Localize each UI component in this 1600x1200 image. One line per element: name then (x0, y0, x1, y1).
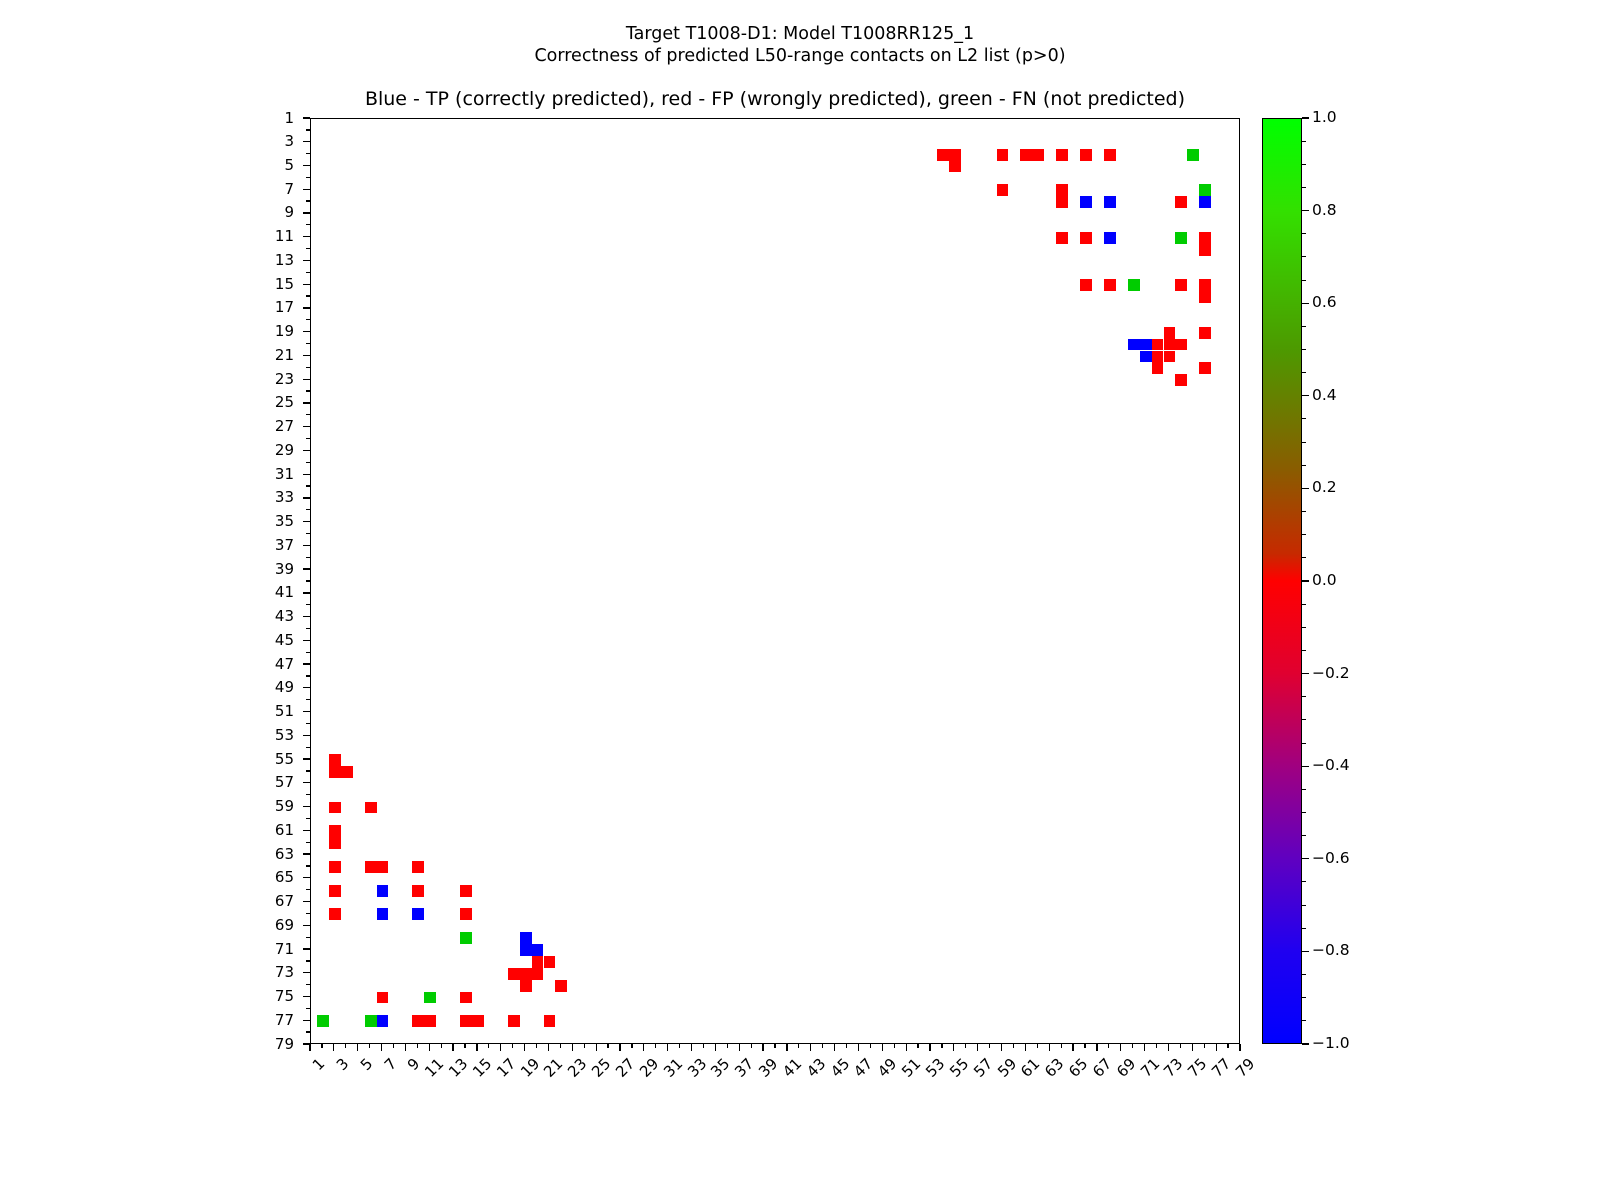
y-tick-mark (303, 284, 310, 285)
colorbar-tick-mark (1302, 349, 1306, 350)
y-tick-mark (306, 248, 310, 249)
colorbar-tick-mark (1302, 511, 1306, 512)
contact-cell-fn (1128, 279, 1140, 291)
y-tick-mark (306, 1031, 310, 1032)
contact-cell-fp (424, 1015, 436, 1027)
contact-cell-fp (1056, 196, 1068, 208)
x-tick-mark (500, 1044, 501, 1051)
colorbar-tick-mark (1302, 418, 1306, 419)
contact-cell-fp (1080, 232, 1092, 244)
x-tick-mark (441, 1044, 442, 1048)
y-tick-label: 67 (234, 894, 294, 909)
y-tick-mark (306, 794, 310, 795)
colorbar-tick-mark (1302, 604, 1306, 605)
x-tick-mark (631, 1044, 632, 1048)
x-tick-mark (1072, 1044, 1073, 1051)
colorbar-tick-label: −0.2 (1312, 666, 1350, 682)
y-tick-mark (306, 295, 310, 296)
colorbar-tick-mark (1302, 673, 1309, 674)
x-tick-mark (321, 1044, 322, 1048)
y-tick-mark (303, 806, 310, 807)
x-tick-mark (596, 1044, 597, 1051)
y-tick-mark (303, 996, 310, 997)
x-tick-mark (1013, 1044, 1014, 1048)
y-tick-label: 79 (234, 1037, 294, 1052)
y-tick-label: 29 (234, 443, 294, 458)
colorbar-tick-mark (1302, 395, 1309, 396)
y-tick-label: 41 (234, 585, 294, 600)
y-tick-label: 35 (234, 514, 294, 529)
x-tick-mark (894, 1044, 895, 1048)
y-tick-mark (306, 818, 310, 819)
colorbar-tick-label: 0.2 (1312, 480, 1337, 496)
contact-cells-layer (311, 119, 1239, 1043)
contact-cell-fp (329, 802, 341, 814)
y-tick-mark (303, 307, 310, 308)
x-tick-mark (405, 1044, 406, 1051)
x-tick-mark (1001, 1044, 1002, 1051)
x-tick-mark (751, 1044, 752, 1048)
colorbar-tick-mark (1302, 650, 1306, 651)
y-tick-label: 7 (234, 182, 294, 197)
y-tick-label: 33 (234, 490, 294, 505)
y-tick-mark (303, 521, 310, 522)
x-tick-mark (989, 1044, 990, 1048)
contact-cell-fn (365, 1015, 377, 1027)
contact-cell-fn (317, 1015, 329, 1027)
y-tick-mark (303, 117, 310, 118)
y-tick-mark (306, 865, 310, 866)
colorbar-tick-mark (1302, 465, 1306, 466)
x-tick-mark (345, 1044, 346, 1048)
y-tick-mark (303, 877, 310, 878)
x-tick-mark (822, 1044, 823, 1048)
x-tick-mark (1120, 1044, 1121, 1051)
y-tick-mark (303, 189, 310, 190)
x-tick-mark (1192, 1044, 1193, 1051)
colorbar-tick-mark (1302, 117, 1309, 118)
x-tick-mark (965, 1044, 966, 1048)
y-tick-mark (303, 782, 310, 783)
x-tick-mark (333, 1044, 334, 1051)
contact-cell-fp (1020, 149, 1032, 161)
x-tick-mark (369, 1044, 370, 1048)
colorbar-tick-mark (1302, 719, 1306, 720)
contact-cell-fp (365, 802, 377, 814)
x-tick-mark (762, 1044, 763, 1051)
y-tick-label: 1 (234, 111, 294, 126)
colorbar-tick-mark (1302, 233, 1306, 234)
y-tick-label: 37 (234, 538, 294, 553)
contact-cell-fp (1032, 149, 1044, 161)
y-tick-mark (303, 568, 310, 569)
y-tick-mark (303, 260, 310, 261)
figure-suptitle-line-2: Correctness of predicted L50-range conta… (0, 44, 1600, 69)
y-tick-label: 5 (234, 158, 294, 173)
colorbar-tick-mark (1302, 557, 1306, 558)
contact-cell-fp (1199, 291, 1211, 303)
y-tick-mark (306, 462, 310, 463)
y-tick-mark (303, 545, 310, 546)
contact-cell-fp (1164, 351, 1176, 363)
y-tick-mark (303, 663, 310, 664)
x-tick-mark (464, 1044, 465, 1048)
contact-cell-fp (329, 837, 341, 849)
colorbar-tick-mark (1302, 858, 1309, 859)
y-tick-mark (306, 200, 310, 201)
contact-cell-fp (1199, 279, 1211, 291)
contact-cell-fp (329, 885, 341, 897)
x-tick-mark (858, 1044, 859, 1051)
colorbar-tick-mark (1302, 372, 1306, 373)
x-tick-mark (715, 1044, 716, 1051)
contact-cell-tp (1140, 351, 1152, 363)
y-tick-mark (303, 925, 310, 926)
x-tick-mark (1227, 1044, 1228, 1048)
y-tick-mark (303, 236, 310, 237)
y-tick-label: 43 (234, 609, 294, 624)
contact-cell-fp (329, 825, 341, 837)
x-tick-mark (703, 1044, 704, 1048)
contact-cell-fp (937, 149, 949, 161)
y-tick-label: 23 (234, 372, 294, 387)
contact-cell-fp (460, 885, 472, 897)
y-tick-mark (306, 723, 310, 724)
y-tick-mark (303, 592, 310, 593)
contact-cell-tp (532, 944, 544, 956)
contact-cell-fp (1199, 362, 1211, 374)
x-tick-mark (584, 1044, 585, 1048)
x-tick-mark (619, 1044, 620, 1051)
y-tick-mark (303, 426, 310, 427)
contact-cell-fp (1164, 339, 1176, 351)
contact-cell-fp (1056, 149, 1068, 161)
colorbar-tick-mark (1302, 256, 1306, 257)
x-tick-mark (977, 1044, 978, 1051)
y-tick-label: 75 (234, 989, 294, 1004)
y-tick-label: 49 (234, 680, 294, 695)
x-tick-mark (1180, 1044, 1181, 1048)
colorbar-tick-mark (1302, 766, 1309, 767)
colorbar-tick-label: −0.4 (1312, 758, 1350, 774)
y-tick-label: 15 (234, 277, 294, 292)
x-tick-mark (739, 1044, 740, 1051)
colorbar-tick-mark (1302, 1043, 1309, 1044)
x-tick-mark (727, 1044, 728, 1048)
contact-map-figure: Target T1008-D1: Model T1008RR125_1 Corr… (0, 0, 1600, 1200)
x-tick-mark (929, 1044, 930, 1051)
colorbar-tick-mark (1302, 881, 1306, 882)
x-tick-mark (357, 1044, 358, 1051)
x-tick-mark (953, 1044, 954, 1051)
colorbar-tick-label: −1.0 (1312, 1036, 1350, 1052)
contact-cell-fp (544, 1015, 556, 1027)
colorbar-tick-mark (1302, 997, 1306, 998)
y-tick-mark (306, 842, 310, 843)
y-tick-mark (303, 379, 310, 380)
y-tick-label: 39 (234, 562, 294, 577)
contact-cell-tp (1104, 232, 1116, 244)
contact-cell-tp (1140, 339, 1152, 351)
y-tick-mark (303, 758, 310, 759)
y-tick-mark (306, 272, 310, 273)
y-tick-mark (306, 984, 310, 985)
contact-cell-tp (520, 944, 532, 956)
y-tick-label: 51 (234, 704, 294, 719)
contact-cell-fp (329, 766, 341, 778)
contact-cell-fp (1175, 196, 1187, 208)
contact-cell-fp (949, 161, 961, 173)
y-tick-mark (303, 687, 310, 688)
y-tick-label: 57 (234, 775, 294, 790)
contact-cell-fp (1056, 232, 1068, 244)
y-tick-mark (303, 830, 310, 831)
colorbar-tick-mark (1302, 789, 1306, 790)
y-tick-mark (306, 889, 310, 890)
x-tick-mark (1204, 1044, 1205, 1048)
y-tick-mark (306, 533, 310, 534)
contact-cell-tp (412, 908, 424, 920)
y-tick-mark (303, 497, 310, 498)
contact-cell-fp (412, 1015, 424, 1027)
contact-cell-tp (520, 932, 532, 944)
y-tick-mark (306, 557, 310, 558)
contact-cell-fp (341, 766, 353, 778)
y-tick-label: 71 (234, 942, 294, 957)
contact-cell-fp (508, 1015, 520, 1027)
contact-cell-fp (1199, 232, 1211, 244)
y-tick-mark (306, 628, 310, 629)
y-tick-mark (306, 604, 310, 605)
y-tick-label: 11 (234, 229, 294, 244)
contact-cell-fp (532, 968, 544, 980)
colorbar-tick-mark (1302, 534, 1306, 535)
x-tick-mark (607, 1044, 608, 1048)
contact-map-plot-area[interactable] (310, 118, 1240, 1044)
axes-title-legend: Blue - TP (correctly predicted), red - F… (310, 88, 1240, 110)
x-tick-mark (1108, 1044, 1109, 1048)
x-tick-mark (786, 1044, 787, 1051)
x-tick-mark (691, 1044, 692, 1051)
contact-cell-tp (1128, 339, 1140, 351)
x-tick-mark (1132, 1044, 1133, 1048)
colorbar-tick-mark (1302, 580, 1309, 581)
colorbar-tick-mark (1302, 905, 1306, 906)
y-tick-label: 45 (234, 633, 294, 648)
x-tick-mark (870, 1044, 871, 1048)
contact-cell-fp (1104, 149, 1116, 161)
contact-cell-fn (1187, 149, 1199, 161)
y-tick-mark (306, 177, 310, 178)
y-tick-mark (303, 331, 310, 332)
y-tick-label: 13 (234, 253, 294, 268)
contact-cell-fp (460, 908, 472, 920)
colorbar-tick-mark (1302, 210, 1309, 211)
y-tick-mark (306, 580, 310, 581)
contact-cell-fp (532, 956, 544, 968)
y-tick-mark (306, 770, 310, 771)
x-tick-mark (1049, 1044, 1050, 1051)
y-tick-label: 53 (234, 728, 294, 743)
x-tick-mark (643, 1044, 644, 1051)
colorbar-tick-mark (1302, 743, 1306, 744)
contact-cell-fp (1164, 327, 1176, 339)
colorbar-tick-mark (1302, 835, 1306, 836)
x-tick-mark (834, 1044, 835, 1051)
contact-cell-fp (1152, 362, 1164, 374)
x-tick-mark (1168, 1044, 1169, 1051)
contact-cell-fp (997, 149, 1009, 161)
contact-cell-fp (329, 861, 341, 873)
colorbar-tick-mark (1302, 303, 1309, 304)
contact-cell-fp (329, 908, 341, 920)
contact-cell-fp (1152, 351, 1164, 363)
y-tick-mark (303, 1020, 310, 1021)
contact-cell-fp (1199, 244, 1211, 256)
y-tick-label: 65 (234, 870, 294, 885)
y-tick-label: 31 (234, 467, 294, 482)
colorbar-tick-mark (1302, 1020, 1306, 1021)
colorbar-tick-mark (1302, 280, 1306, 281)
contact-cell-fp (997, 184, 1009, 196)
colorbar-tick-mark (1302, 488, 1309, 489)
y-tick-label: 61 (234, 823, 294, 838)
contact-cell-fp (508, 968, 520, 980)
x-tick-mark (417, 1044, 418, 1048)
colorbar-tick-mark (1302, 951, 1309, 952)
x-tick-mark (906, 1044, 907, 1051)
x-tick-mark (655, 1044, 656, 1048)
y-tick-mark (306, 1008, 310, 1009)
colorbar-tick-mark (1302, 164, 1306, 165)
colorbar-tick-label: −0.8 (1312, 943, 1350, 959)
y-tick-label: 63 (234, 847, 294, 862)
contact-cell-fp (520, 980, 532, 992)
y-tick-mark (303, 972, 310, 973)
y-tick-mark (306, 438, 310, 439)
colorbar-tick-mark (1302, 696, 1306, 697)
y-tick-mark (303, 711, 310, 712)
contact-cell-fp (377, 861, 389, 873)
y-tick-mark (306, 319, 310, 320)
colorbar-tick-mark (1302, 974, 1306, 975)
x-tick-mark (882, 1044, 883, 1051)
y-tick-mark (306, 937, 310, 938)
y-tick-label: 25 (234, 395, 294, 410)
contact-cell-fp (1104, 279, 1116, 291)
x-tick-mark (798, 1044, 799, 1048)
y-tick-mark (306, 343, 310, 344)
y-tick-mark (306, 129, 310, 130)
y-tick-mark (306, 913, 310, 914)
x-tick-mark (1025, 1044, 1026, 1051)
contact-cell-fp (1080, 149, 1092, 161)
contact-cell-tp (377, 908, 389, 920)
y-tick-mark (303, 735, 310, 736)
y-tick-label: 19 (234, 324, 294, 339)
contact-cell-fp (460, 992, 472, 1004)
x-tick-mark (381, 1044, 382, 1051)
y-tick-label: 9 (234, 205, 294, 220)
contact-cell-tp (377, 1015, 389, 1027)
contact-cell-fp (1175, 339, 1187, 351)
x-tick-mark (512, 1044, 513, 1048)
contact-cell-fp (365, 861, 377, 873)
x-tick-mark (452, 1044, 453, 1051)
y-tick-mark (306, 747, 310, 748)
x-tick-mark (488, 1044, 489, 1048)
y-tick-mark (303, 355, 310, 356)
y-tick-mark (303, 450, 310, 451)
contact-cell-fp (412, 885, 424, 897)
x-tick-mark (846, 1044, 847, 1048)
contact-cell-tp (1104, 196, 1116, 208)
colorbar-tick-label: 0.8 (1312, 203, 1337, 219)
contact-cell-fp (1056, 184, 1068, 196)
x-tick-mark (524, 1044, 525, 1051)
y-tick-mark (306, 485, 310, 486)
colorbar-tick-mark (1302, 442, 1306, 443)
x-tick-mark (679, 1044, 680, 1048)
y-tick-mark (306, 960, 310, 961)
x-tick-mark (917, 1044, 918, 1048)
colorbar-tick-label: 0.6 (1312, 295, 1337, 311)
y-tick-label: 21 (234, 348, 294, 363)
colorbar[interactable] (1262, 118, 1302, 1044)
x-tick-mark (810, 1044, 811, 1051)
contact-cell-fp (544, 956, 556, 968)
contact-cell-fp (949, 149, 961, 161)
x-tick-mark (1239, 1044, 1240, 1051)
contact-cell-fn (424, 992, 436, 1004)
x-tick-mark (1216, 1044, 1217, 1051)
x-tick-mark (667, 1044, 668, 1051)
y-tick-mark (303, 640, 310, 641)
contact-cell-fp (460, 1015, 472, 1027)
contact-cell-fp (555, 980, 567, 992)
y-tick-label: 73 (234, 965, 294, 980)
contact-cell-fn (460, 932, 472, 944)
colorbar-tick-label: 1.0 (1312, 110, 1337, 126)
y-tick-label: 27 (234, 419, 294, 434)
y-tick-label: 77 (234, 1013, 294, 1028)
y-tick-mark (303, 474, 310, 475)
contact-cell-fp (520, 968, 532, 980)
y-tick-label: 17 (234, 300, 294, 315)
y-tick-mark (303, 402, 310, 403)
y-tick-mark (306, 390, 310, 391)
y-tick-mark (306, 414, 310, 415)
y-tick-mark (306, 509, 310, 510)
contact-cell-fp (377, 992, 389, 1004)
colorbar-tick-mark (1302, 812, 1306, 813)
contact-cell-fp (1152, 339, 1164, 351)
y-tick-mark (303, 141, 310, 142)
contact-cell-tp (377, 885, 389, 897)
contact-cell-tp (1199, 196, 1211, 208)
y-tick-label: 47 (234, 657, 294, 672)
y-tick-mark (303, 901, 310, 902)
contact-cell-fn (1175, 232, 1187, 244)
y-tick-mark (306, 675, 310, 676)
contact-cell-fp (1199, 327, 1211, 339)
y-tick-mark (306, 699, 310, 700)
x-tick-mark (572, 1044, 573, 1051)
contact-cell-fp (412, 861, 424, 873)
x-tick-mark (560, 1044, 561, 1048)
colorbar-tick-mark (1302, 928, 1306, 929)
x-tick-mark (309, 1044, 310, 1051)
